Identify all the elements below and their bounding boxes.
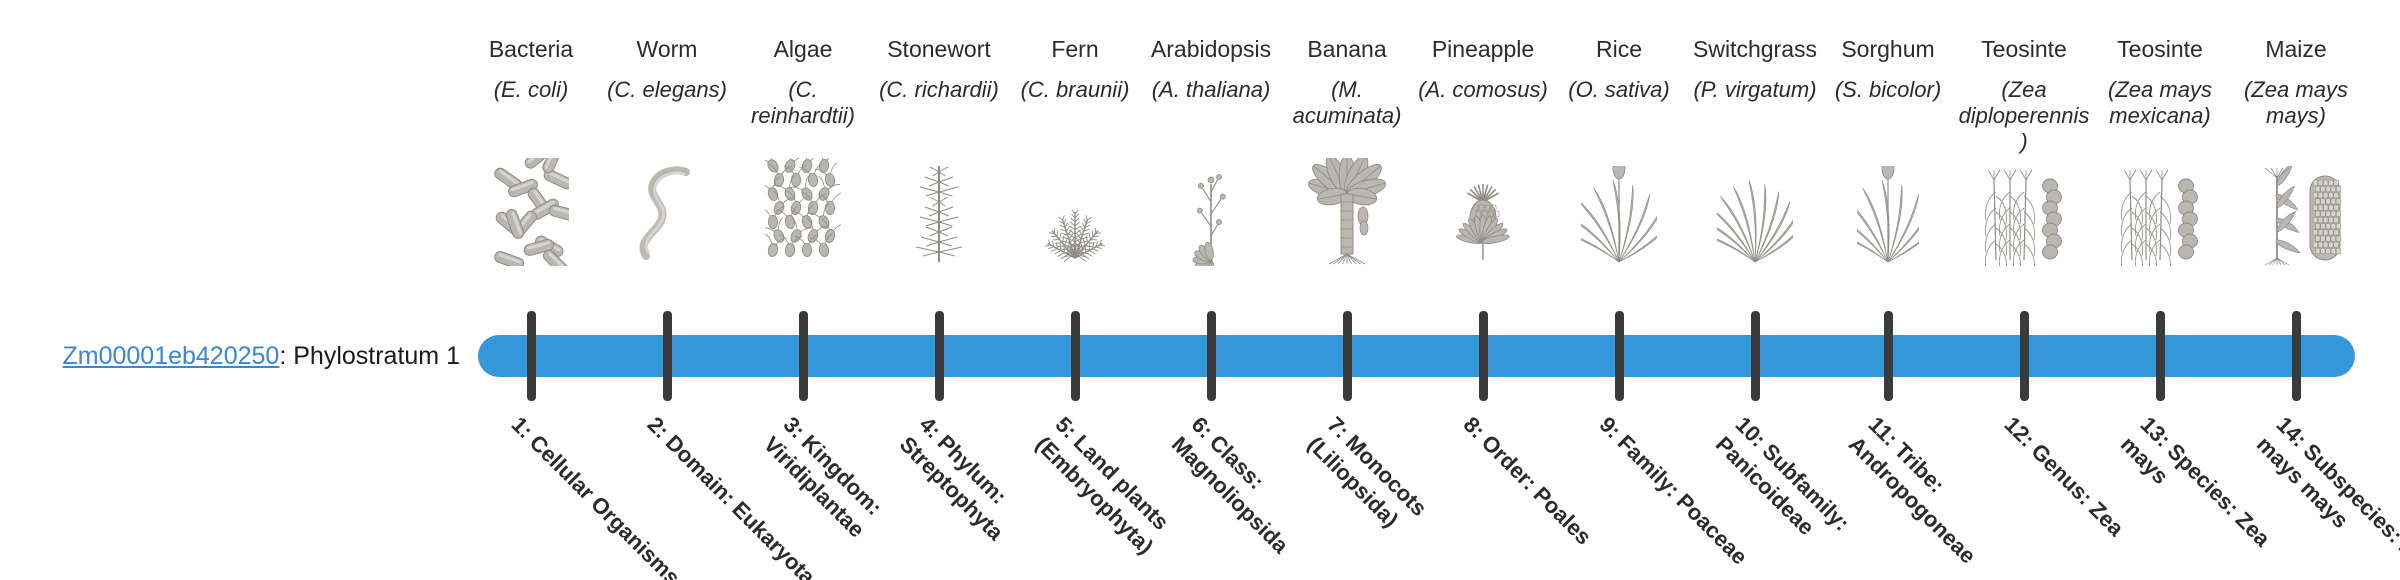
phylostratigraphy-figure: Zm00001eb420250: Phylostratum 1 Bacteria… (0, 0, 2400, 580)
taxonomy-label-row: 1: Cellular Organisms2: Domain: Eukaryot… (0, 0, 2400, 580)
